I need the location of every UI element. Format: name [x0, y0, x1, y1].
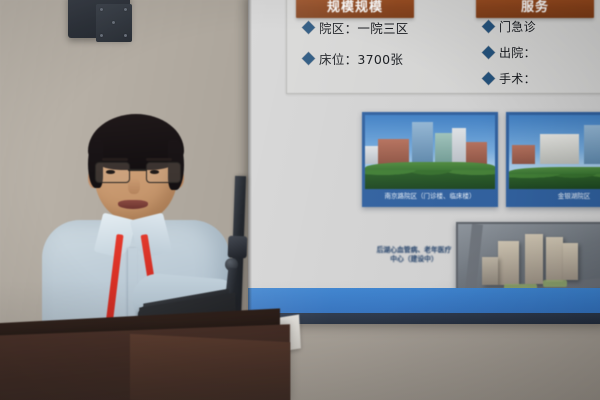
bullet-text: 出院：: [499, 44, 536, 61]
photo-caption: 金银湖院区: [509, 189, 600, 204]
diamond-bullet-icon: [302, 21, 315, 34]
bullet-item: 院区：一院三区: [304, 18, 454, 37]
diamond-bullet-icon: [482, 46, 495, 59]
projection-screen: 规模规模 服务 院区：一院三区 床位：3700张 门急诊 出院：: [248, 0, 600, 324]
diamond-bullet-icon: [482, 20, 495, 33]
presentation-photo-scene: 规模规模 服务 院区：一院三区 床位：3700张 门急诊 出院：: [0, 0, 600, 400]
photo-caption: 南京路院区（门诊楼、临床楼）: [365, 189, 495, 204]
slide-photo-card: 金银湖院区: [506, 112, 600, 207]
hospital-campus-photo: [509, 115, 600, 189]
slide-header-right: 服务: [476, 0, 594, 18]
bullet-item: 床位：3700张: [304, 49, 454, 68]
bullet-item: 门急诊: [484, 18, 600, 35]
bullet-item: 出院：: [484, 44, 600, 61]
bullet-text: 手术：: [499, 70, 536, 87]
presenter-mouth: [118, 200, 148, 209]
slide-left-column: 院区：一院三区 床位：3700张: [304, 18, 454, 80]
bullet-text: 床位：3700张: [319, 49, 403, 68]
slide-photo-card: 南京路院区（门诊楼、临床楼）: [362, 112, 498, 207]
diamond-bullet-icon: [302, 52, 315, 65]
bullet-text: 门急诊: [499, 18, 536, 35]
hospital-campus-photo: [365, 115, 495, 189]
diamond-bullet-icon: [482, 72, 495, 85]
bullet-text: 院区：一院三区: [319, 18, 409, 37]
slide-right-column: 门急诊 出院： 手术：: [484, 18, 600, 96]
slide-header-left: 规模规模: [296, 0, 414, 18]
bullet-item: 手术：: [484, 70, 600, 87]
